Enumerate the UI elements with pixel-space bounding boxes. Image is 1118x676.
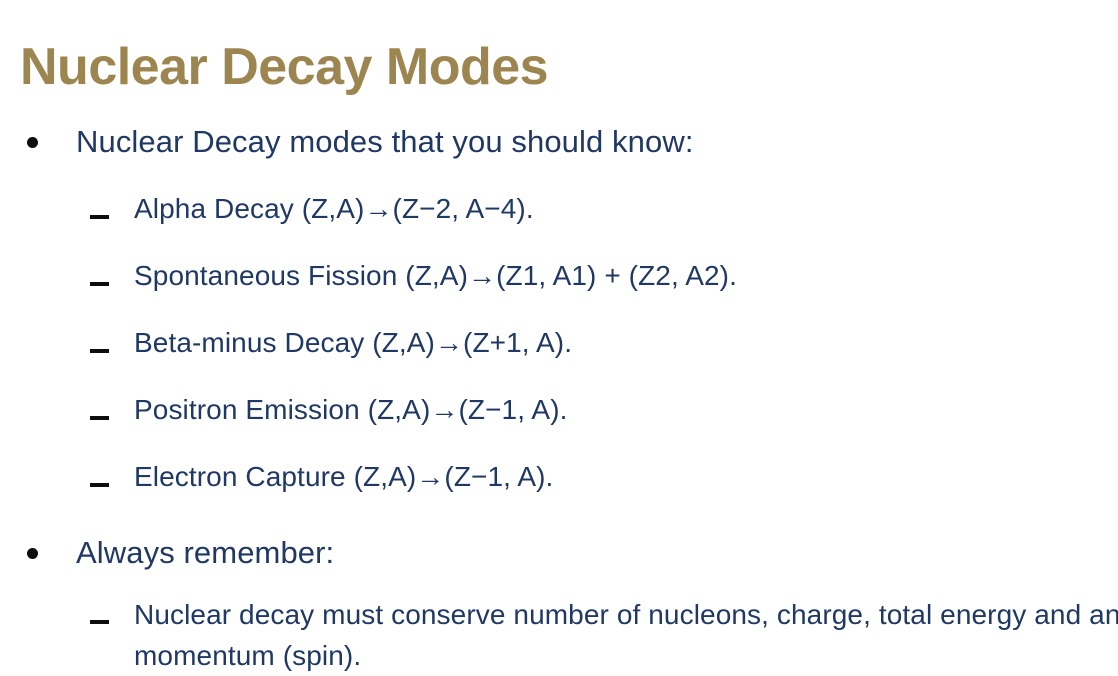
bullet-text: Positron Emission (Z,A)→(Z−1, A). <box>134 390 1118 430</box>
bullet-text: Electron Capture (Z,A)→(Z−1, A). <box>134 457 1118 497</box>
bullet-list: Nuclear Decay modes that you should know… <box>0 120 1118 676</box>
bullet-item-level2: Nuclear decay must conserve number of nu… <box>0 594 1118 676</box>
round-bullet-icon <box>27 548 38 559</box>
dash-bullet-icon <box>90 416 109 420</box>
bullet-item-level1: Nuclear Decay modes that you should know… <box>0 120 1118 180</box>
bullet-text: Beta-minus Decay (Z,A)→(Z+1, A). <box>134 323 1118 363</box>
slide: Nuclear Decay Modes Nuclear Decay modes … <box>0 0 1118 663</box>
bullet-item-level2: Alpha Decay (Z,A)→(Z−2, A−4). <box>0 189 1118 256</box>
bullet-item-level2: Beta-minus Decay (Z,A)→(Z+1, A). <box>0 323 1118 390</box>
dash-bullet-icon <box>90 483 109 487</box>
bullet-text: Nuclear Decay modes that you should know… <box>76 120 1118 164</box>
dash-bullet-icon <box>90 282 109 286</box>
bullet-text: Nuclear decay must conserve number of nu… <box>134 594 1118 676</box>
bullet-item-level2: Spontaneous Fission (Z,A)→(Z1, A1) + (Z2… <box>0 256 1118 323</box>
bullet-item-level2: Electron Capture (Z,A)→(Z−1, A). <box>0 457 1118 524</box>
round-bullet-icon <box>27 137 38 148</box>
bullet-text: Alpha Decay (Z,A)→(Z−2, A−4). <box>134 189 1118 229</box>
dash-bullet-icon <box>90 349 109 353</box>
bullet-item-level1: Always remember: <box>0 531 1118 591</box>
page-title: Nuclear Decay Modes <box>20 37 1080 97</box>
bullet-text: Always remember: <box>76 531 1118 575</box>
bullet-item-level2: Positron Emission (Z,A)→(Z−1, A). <box>0 390 1118 457</box>
bullet-text: Spontaneous Fission (Z,A)→(Z1, A1) + (Z2… <box>134 256 1118 296</box>
dash-bullet-icon <box>90 620 109 624</box>
dash-bullet-icon <box>90 215 109 219</box>
